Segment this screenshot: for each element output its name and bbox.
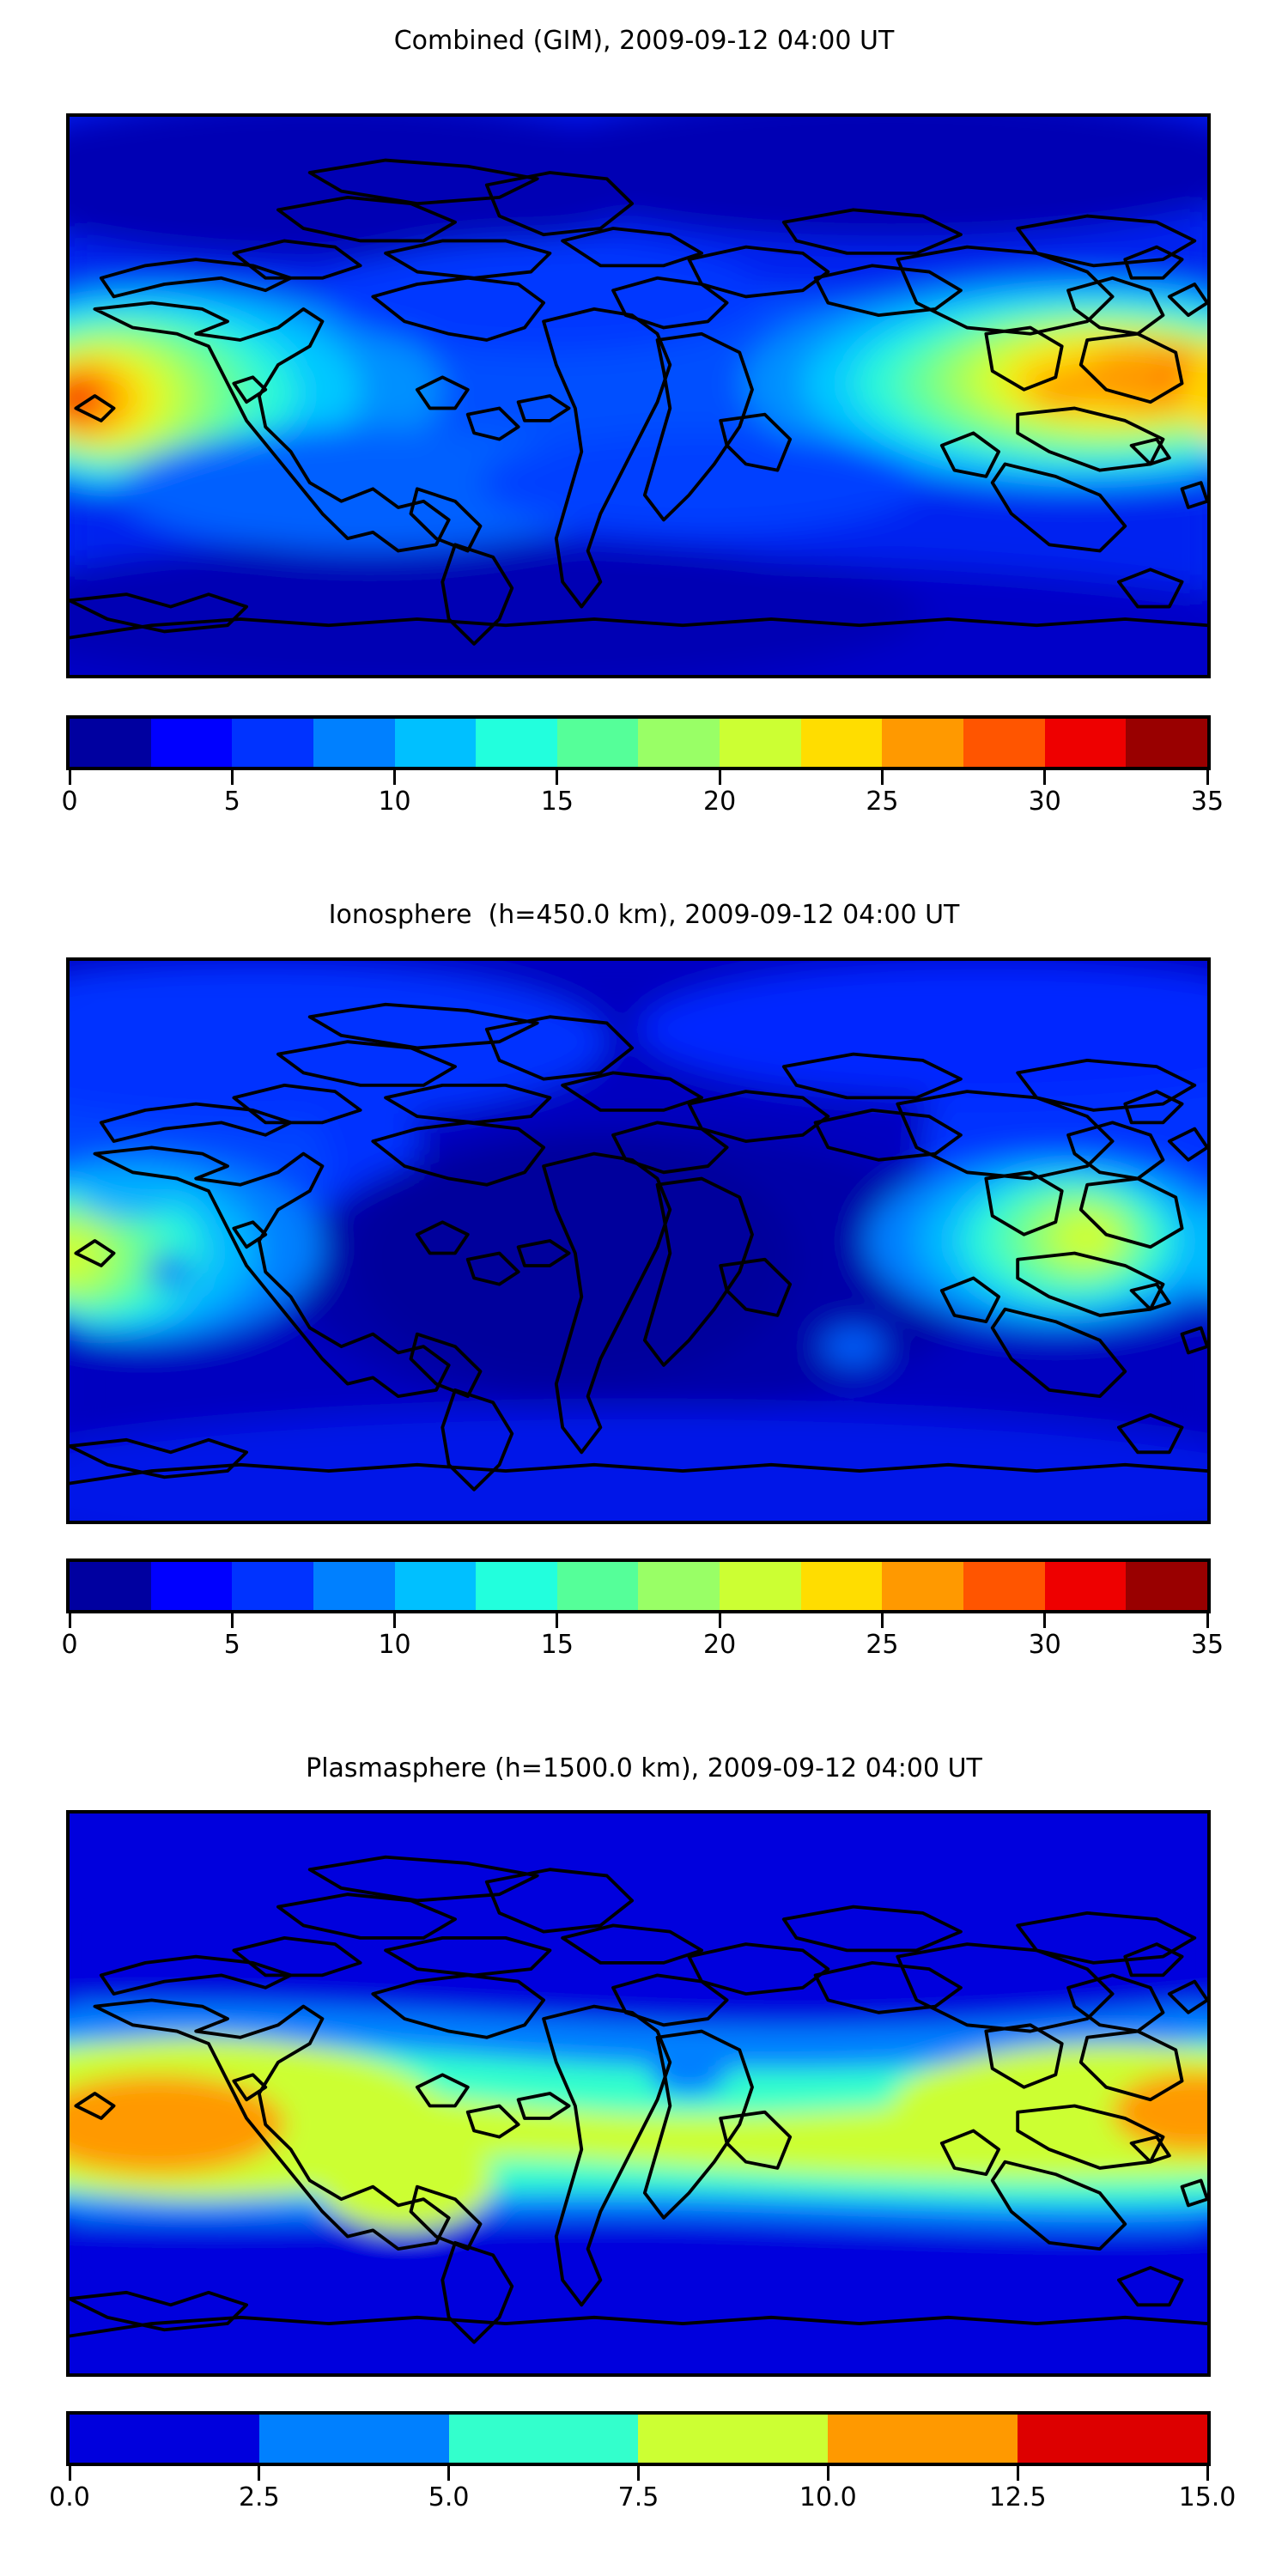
- colorbar-segment: [882, 719, 963, 767]
- colorbar-segment: [963, 1562, 1045, 1610]
- colorbar-segment: [1126, 1562, 1207, 1610]
- colorbar-tick: [881, 1613, 884, 1628]
- colorbar-segment: [232, 719, 313, 767]
- colorbar-segment: [313, 1562, 395, 1610]
- colorbar-tick: [827, 2466, 829, 2481]
- colorbar-segment: [801, 1562, 883, 1610]
- colorbar-ionosphere-450: 05101520253035: [66, 1558, 1211, 1665]
- colorbar-ticks: [66, 1613, 1211, 1629]
- colorbar-segment: [476, 719, 557, 767]
- map-svg: [70, 1814, 1207, 2373]
- colorbar-segment: [638, 2415, 828, 2463]
- colorbar-tick: [231, 770, 234, 785]
- colorbar-tick-label: 12.5: [989, 2482, 1047, 2514]
- colorbar-tick: [393, 770, 396, 785]
- colorbar-segment: [1045, 1562, 1127, 1610]
- colorbar-tick-label: 15: [541, 786, 574, 818]
- colorbar-tick-label: 25: [866, 1629, 898, 1662]
- colorbar-tick-label: 20: [703, 786, 736, 818]
- colorbar-tick-label: 30: [1029, 1629, 1061, 1662]
- colorbar-segment: [720, 1562, 801, 1610]
- colorbar-segment: [313, 719, 395, 767]
- tec-contours: [70, 117, 1207, 675]
- panel-ionosphere-450: Ionosphere (h=450.0 km), 2009-09-12 04:0…: [0, 859, 1288, 1709]
- colorbar-tick: [393, 1613, 396, 1628]
- colorbar-tick: [1206, 770, 1209, 785]
- tec-contours: [70, 961, 1207, 1521]
- colorbar-segment: [963, 719, 1045, 767]
- colorbar-tick-label: 30: [1029, 786, 1061, 818]
- colorbar-segment: [70, 719, 151, 767]
- colorbar-combined-gim: 05101520253035: [66, 715, 1211, 822]
- colorbar-gradient: [66, 1558, 1211, 1613]
- colorbar-tick-label: 5.0: [428, 2482, 470, 2514]
- colorbar-tick-label: 5: [224, 1629, 240, 1662]
- colorbar-segment: [232, 1562, 313, 1610]
- panel-title: Combined (GIM), 2009-09-12 04:00 UT: [0, 26, 1288, 57]
- tec-contours: [70, 1814, 1207, 2373]
- colorbar-tick: [1206, 2466, 1209, 2481]
- colorbar-tick: [556, 770, 558, 785]
- colorbar-segment: [395, 719, 477, 767]
- colorbar-segment: [151, 719, 233, 767]
- colorbar-segment: [449, 2415, 639, 2463]
- colorbar-tick: [69, 2466, 71, 2481]
- map-combined-gim: [66, 113, 1211, 678]
- colorbar-tick: [1043, 1613, 1046, 1628]
- colorbar-tick: [1043, 770, 1046, 785]
- map-ionosphere-450: [66, 957, 1211, 1524]
- colorbar-tick-label: 35: [1191, 786, 1224, 818]
- colorbar-tick: [556, 1613, 558, 1628]
- colorbar-tick: [719, 770, 721, 785]
- colorbar-segment: [801, 719, 883, 767]
- colorbar-segment: [638, 719, 720, 767]
- map-svg: [70, 117, 1207, 675]
- colorbar-tick: [1206, 1613, 1209, 1628]
- colorbar-tick: [881, 770, 884, 785]
- colorbar-tick-labels: 0.02.55.07.510.012.515.0: [66, 2482, 1211, 2518]
- colorbar-tick-label: 0: [61, 786, 77, 818]
- colorbar-segment: [720, 719, 801, 767]
- colorbar-segment: [882, 1562, 963, 1610]
- colorbar-segment: [151, 1562, 233, 1610]
- map-plasmasphere-1500: [66, 1810, 1211, 2377]
- colorbar-tick-label: 5: [224, 786, 240, 818]
- map-svg: [70, 961, 1207, 1521]
- colorbar-ticks: [66, 2466, 1211, 2482]
- colorbar-tick: [447, 2466, 450, 2481]
- colorbar-segment: [638, 1562, 720, 1610]
- colorbar-tick-label: 35: [1191, 1629, 1224, 1662]
- colorbar-segment: [476, 1562, 557, 1610]
- figure-canvas: Combined (GIM), 2009-09-12 04:00 UT: [0, 0, 1288, 2576]
- colorbar-tick-label: 7.5: [618, 2482, 659, 2514]
- colorbar-segment: [259, 2415, 449, 2463]
- colorbar-segment: [70, 1562, 151, 1610]
- colorbar-tick-label: 10: [378, 786, 410, 818]
- colorbar-tick: [1017, 2466, 1019, 2481]
- colorbar-segment: [1018, 2415, 1207, 2463]
- panel-combined-gim: Combined (GIM), 2009-09-12 04:00 UT: [0, 0, 1288, 859]
- colorbar-tick-label: 10: [378, 1629, 410, 1662]
- colorbar-tick-label: 0: [61, 1629, 77, 1662]
- colorbar-segment: [395, 1562, 477, 1610]
- colorbar-tick: [231, 1613, 234, 1628]
- panel-title: Plasmasphere (h=1500.0 km), 2009-09-12 0…: [0, 1753, 1288, 1784]
- colorbar-tick-label: 15.0: [1179, 2482, 1236, 2514]
- colorbar-tick-label: 2.5: [239, 2482, 280, 2514]
- colorbar-segment: [1045, 719, 1127, 767]
- colorbar-plasmasphere-1500: 0.02.55.07.510.012.515.0: [66, 2411, 1211, 2518]
- colorbar-segment: [557, 1562, 639, 1610]
- colorbar-tick: [637, 2466, 640, 2481]
- colorbar-tick-label: 10.0: [799, 2482, 857, 2514]
- colorbar-gradient: [66, 2411, 1211, 2466]
- colorbar-ticks: [66, 770, 1211, 786]
- colorbar-tick-labels: 05101520253035: [66, 786, 1211, 822]
- colorbar-gradient: [66, 715, 1211, 770]
- colorbar-tick-label: 0.0: [49, 2482, 90, 2514]
- panel-plasmasphere-1500: Plasmasphere (h=1500.0 km), 2009-09-12 0…: [0, 1709, 1288, 2576]
- colorbar-tick-label: 20: [703, 1629, 736, 1662]
- colorbar-tick: [69, 770, 71, 785]
- colorbar-tick: [69, 1613, 71, 1628]
- colorbar-segment: [1126, 719, 1207, 767]
- colorbar-tick: [719, 1613, 721, 1628]
- colorbar-tick-labels: 05101520253035: [66, 1629, 1211, 1665]
- colorbar-tick: [258, 2466, 260, 2481]
- colorbar-segment: [828, 2415, 1018, 2463]
- colorbar-tick-label: 15: [541, 1629, 574, 1662]
- panel-title: Ionosphere (h=450.0 km), 2009-09-12 04:0…: [0, 900, 1288, 931]
- colorbar-tick-label: 25: [866, 786, 898, 818]
- colorbar-segment: [557, 719, 639, 767]
- colorbar-segment: [70, 2415, 259, 2463]
